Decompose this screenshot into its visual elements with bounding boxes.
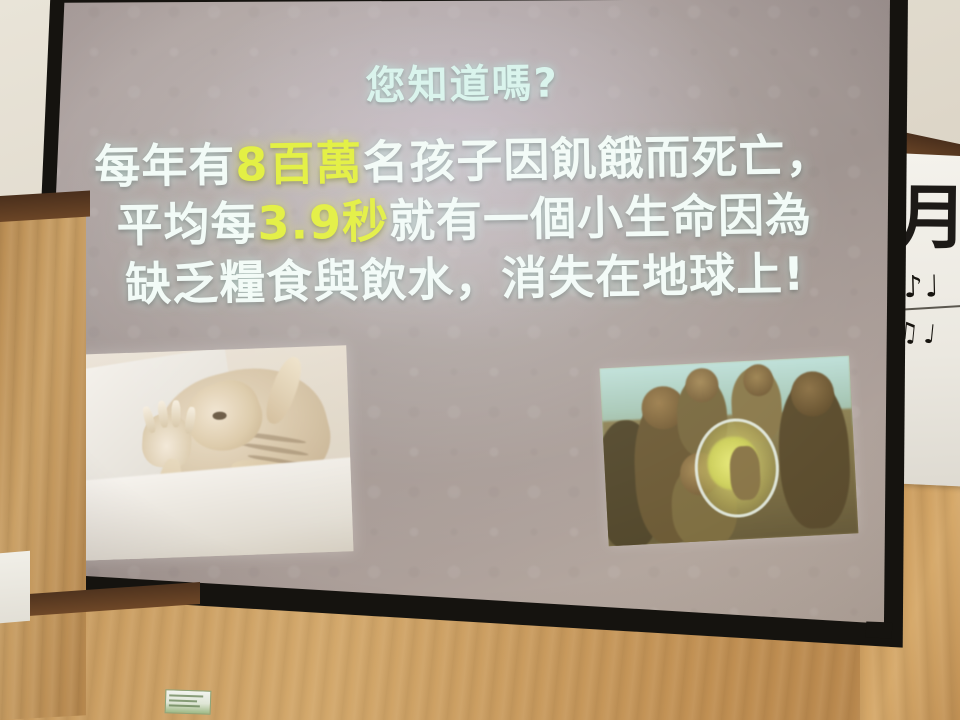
slide-body-text: 每年有8百萬名孩子因飢餓而死亡， 平均每3.9秒就有一個小生命因為 缺乏糧食與飲…: [45, 125, 884, 315]
photo2-reaching-arm: [729, 446, 762, 501]
slide-photo-starving-child: [74, 345, 353, 560]
line1-seg3: 名孩子因飢餓而死亡，: [362, 128, 833, 189]
line3-seg1: 缺乏糧食與飲水，消失在地球上!: [125, 246, 806, 311]
room-whiteboard-edge: [0, 551, 30, 624]
photo1-finger-3: [172, 401, 181, 428]
slide-content: 您知道嗎? 每年有8百萬名孩子因飢餓而死亡， 平均每3.9秒就有一個小生命因為 …: [36, 0, 896, 666]
line2-seg3: 就有一個小生命因為: [389, 187, 813, 248]
room-trim-left: [0, 190, 90, 222]
photo1-child-eye: [212, 411, 226, 420]
screenshot-stage: 月 𝄞♪♩ ♪♫♩ 您知道嗎? 每年有8百萬名孩子因飢餓而死亡， 平均每3.9秒…: [0, 0, 960, 720]
sticker-line-2: [169, 699, 197, 702]
slide-body-line-3: 缺乏糧食與飲水，消失在地球上!: [47, 243, 884, 315]
sticker-line-1: [169, 694, 203, 697]
projected-slide: 您知道嗎? 每年有8百萬名孩子因飢餓而死亡， 平均每3.9秒就有一個小生命因為 …: [36, 0, 896, 666]
slide-title: 您知道嗎?: [36, 45, 892, 117]
line1-highlight-figure: 8百萬: [235, 136, 363, 192]
projection-screen: 您知道嗎? 每年有8百萬名孩子因飢餓而死亡， 平均每3.9秒就有一個小生命因為 …: [0, 0, 930, 720]
equipment-sticker-label: [165, 689, 212, 715]
screen-frame-foot: [866, 622, 893, 639]
line1-seg1: 每年有: [94, 138, 236, 194]
room-wood-panel-left: [0, 205, 86, 720]
slide-photo-children-food-bowl: [599, 355, 858, 546]
line2-highlight-interval: 3.9秒: [257, 194, 389, 250]
line2-seg1: 平均每: [116, 196, 258, 252]
sticker-line-3: [169, 704, 200, 707]
